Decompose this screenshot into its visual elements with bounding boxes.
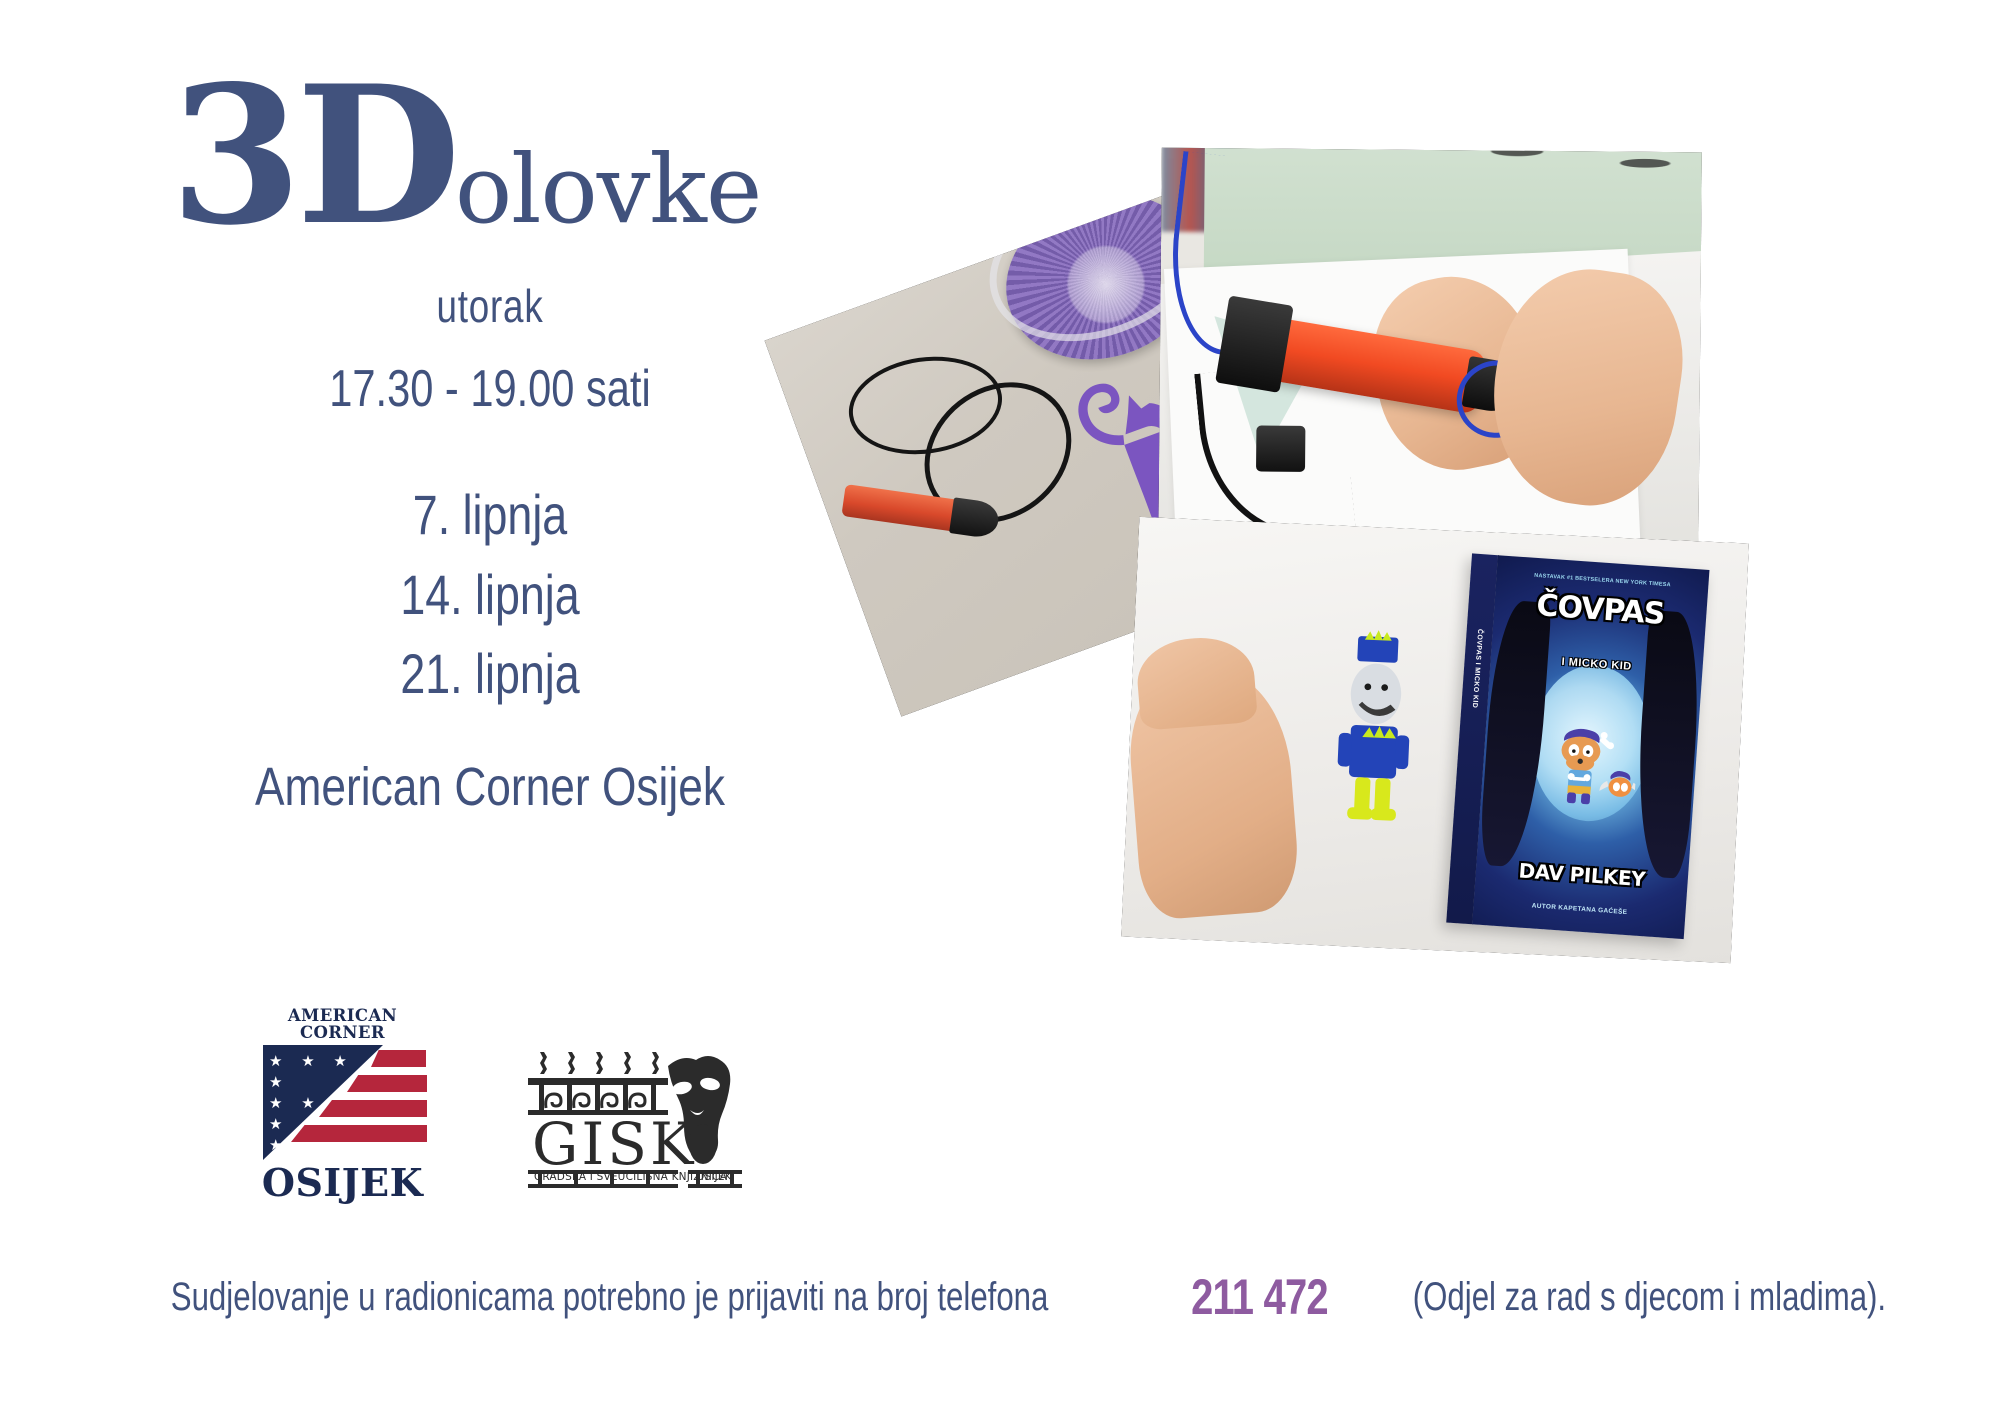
book-tagline: NASTAVAK #1 BESTSELERA NEW YORK TIMESA [1514, 571, 1692, 589]
gisk-logo-icon: GISK GRADSKA I SVEUČILIŠNA KNJIŽNICA OSI… [520, 1044, 750, 1192]
dog-figure-icon [1307, 626, 1440, 883]
photo-pen-inner [1158, 148, 1702, 573]
ferrite-bead-icon [1256, 426, 1305, 473]
gisk-city: OSIJEK [696, 1171, 733, 1183]
logo-row: AMERICAN CORNER ★ ★ ★ ★ ★ ★ ★ ★ ★ ★ OSIJ… [160, 1000, 820, 1200]
us-flag-icon: ★ ★ ★ ★ ★ ★ ★ ★ ★ ★ [255, 1045, 430, 1160]
list-item: 14. lipnja [226, 555, 754, 635]
american-corner-logo-top-text: AMERICAN CORNER [255, 1008, 430, 1041]
dog-figure-svg [1307, 626, 1440, 883]
hoodie-print [1459, 148, 1692, 185]
date-list: 7. lipnja 14. lipnja 21. lipnja [160, 475, 820, 714]
list-item: 21. lipnja [226, 634, 754, 714]
photo-book-scene: ČOVPAS I MICKO KID NASTAVAK #1 BESTSELER… [1121, 517, 1749, 963]
list-item: 7. lipnja [226, 475, 754, 555]
footer-note: Sudjelovanje u radionicama potrebno je p… [0, 1268, 2000, 1326]
gisk-logo: GISK GRADSKA I SVEUČILIŠNA KNJIŽNICA OSI… [520, 1044, 750, 1192]
gisk-wordmark: GISK [532, 1110, 696, 1178]
poster-root: 3Dolovke utorak 17.30 - 19.00 sati 7. li… [0, 0, 2000, 1414]
footer-text-before: Sudjelovanje u radionicama potrebno je p… [171, 1275, 1049, 1320]
book-hero-illustration [1525, 691, 1641, 846]
venue-label: American Corner Osijek [219, 756, 760, 818]
photo-child-using-pen [1158, 148, 1702, 573]
book-front-cover: NASTAVAK #1 BESTSELERA NEW YORK TIMESA Č… [1473, 555, 1710, 938]
book-object: ČOVPAS I MICKO KID NASTAVAK #1 BESTSELER… [1447, 554, 1710, 939]
photo-book-inner: ČOVPAS I MICKO KID NASTAVAK #1 BESTSELER… [1121, 517, 1749, 963]
footer-phone-number: 211 472 [1191, 1268, 1328, 1326]
title-olovke: olovke [455, 135, 761, 245]
flag-stripe [319, 1100, 427, 1117]
dog-man-icon [1525, 691, 1641, 846]
flag-stripe [347, 1075, 427, 1092]
photo-pen-scene [1158, 148, 1702, 573]
photo-collage: ČOVPAS I MICKO KID NASTAVAK #1 BESTSELER… [820, 150, 1880, 950]
time-label: 17.30 - 19.00 sati [226, 359, 754, 419]
flag-stripe [291, 1125, 427, 1142]
photo-book-and-figure: ČOVPAS I MICKO KID NASTAVAK #1 BESTSELER… [1121, 517, 1749, 963]
info-column: 3Dolovke utorak 17.30 - 19.00 sati 7. li… [160, 70, 820, 818]
flag-stripe [371, 1050, 426, 1067]
page-title: 3Dolovke [170, 70, 820, 241]
title-3d: 3D [170, 44, 455, 267]
book-spine-text: ČOVPAS I MICKO KID [1471, 629, 1484, 709]
american-corner-logo: AMERICAN CORNER ★ ★ ★ ★ ★ ★ ★ ★ ★ ★ OSIJ… [255, 1008, 430, 1193]
book-footnote: AUTOR KAPETANA GAĆEŠE [1474, 899, 1686, 921]
american-corner-logo-bottom-text: OSIJEK [255, 1164, 430, 1202]
footer-text-after: (Odjel za rad s djecom i mladima). [1412, 1275, 1885, 1320]
weekday-label: utorak [226, 279, 754, 333]
